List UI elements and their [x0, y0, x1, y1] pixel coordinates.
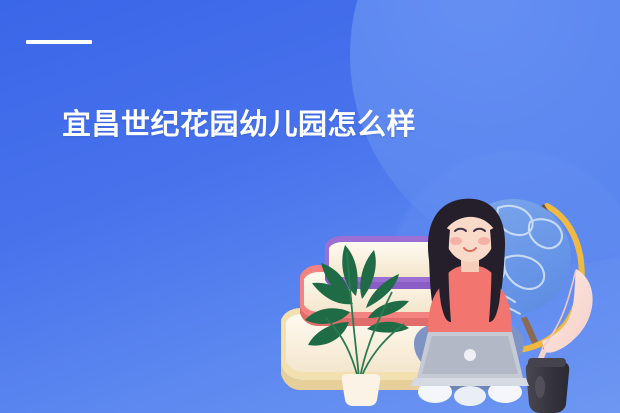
ink-pot-rim — [528, 358, 566, 367]
girl-shoe-center — [454, 386, 486, 406]
girl-blush-left — [450, 237, 462, 245]
laptop-logo — [464, 349, 476, 361]
ink-pot-highlight — [535, 376, 545, 398]
page-title: 宜昌世纪花园幼儿园怎么样 — [62, 108, 416, 142]
article-cover-banner: 宜昌世纪花园幼儿园怎么样 — [0, 0, 620, 413]
girl-blush-right — [478, 237, 490, 245]
ink-pot — [526, 362, 569, 413]
headline-block: 宜昌世纪花园幼儿园怎么样 — [26, 40, 92, 44]
plant-pot — [342, 374, 381, 406]
illustration — [0, 0, 620, 413]
laptop-base — [411, 378, 529, 386]
title-accent-rule — [26, 40, 92, 44]
